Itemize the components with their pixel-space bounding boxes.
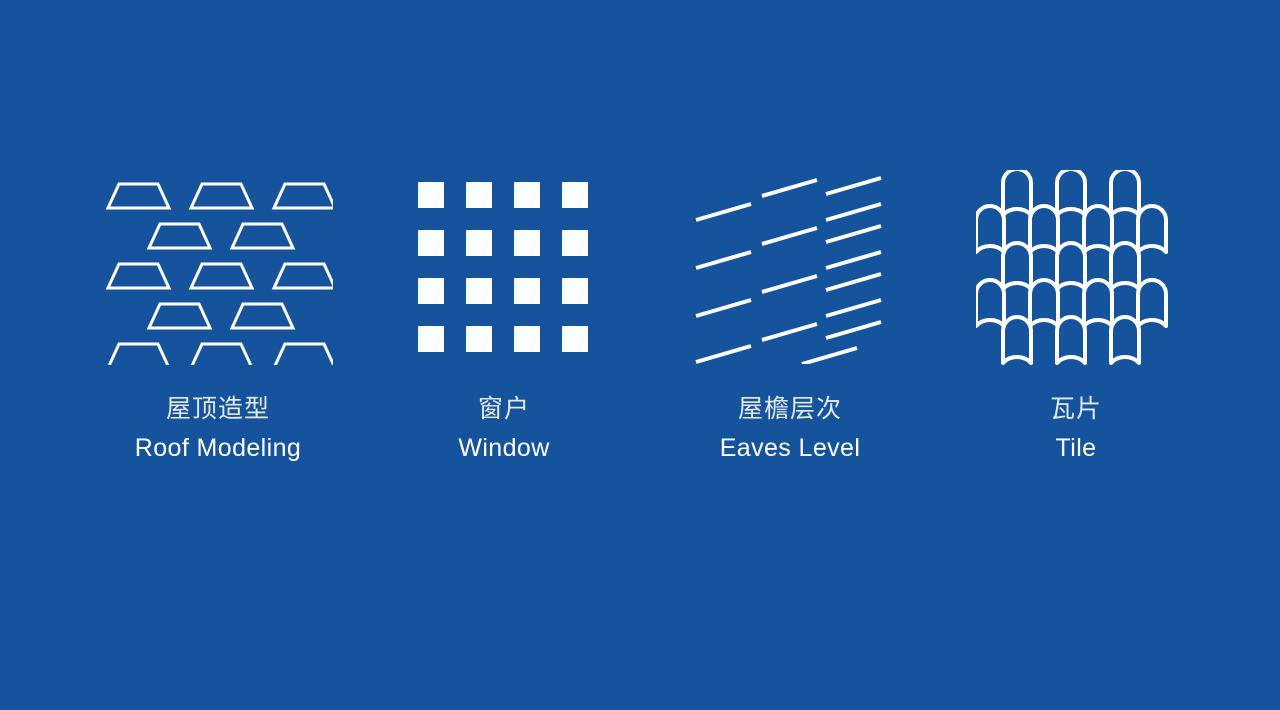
item-window: 窗户 Window: [361, 160, 647, 461]
square-grid-icon: [418, 182, 590, 354]
labels-window: 窗户 Window: [458, 397, 549, 461]
labels-roof-modeling: 屋顶造型 Roof Modeling: [135, 397, 301, 461]
icon-area-tile: [956, 160, 1196, 375]
roof-tile-grid-icon: [976, 170, 1176, 365]
label-cn-eaves-level: 屋檐层次: [720, 397, 861, 422]
icon-items-row: 屋顶造型 Roof Modeling: [0, 160, 1280, 530]
labels-tile: 瓦片 Tile: [1050, 397, 1102, 461]
poster-canvas: 屋顶造型 Roof Modeling: [0, 0, 1280, 710]
label-en-roof-modeling: Roof Modeling: [135, 436, 301, 461]
label-en-tile: Tile: [1050, 436, 1102, 461]
item-tile: 瓦片 Tile: [933, 160, 1219, 461]
label-cn-window: 窗户: [458, 397, 549, 422]
icon-area-roof-modeling: [98, 160, 338, 375]
label-en-eaves-level: Eaves Level: [720, 436, 861, 461]
icon-area-window: [384, 160, 624, 375]
item-eaves-level: 屋檐层次 Eaves Level: [647, 160, 933, 461]
label-cn-tile: 瓦片: [1050, 397, 1102, 422]
icon-area-eaves-level: [670, 160, 910, 375]
item-roof-modeling: 屋顶造型 Roof Modeling: [75, 160, 361, 461]
labels-eaves-level: 屋檐层次 Eaves Level: [720, 397, 861, 461]
diagonal-lines-icon: [694, 172, 886, 364]
trapezoid-grid-icon: [103, 170, 333, 365]
label-en-window: Window: [458, 436, 549, 461]
label-cn-roof-modeling: 屋顶造型: [135, 397, 301, 422]
